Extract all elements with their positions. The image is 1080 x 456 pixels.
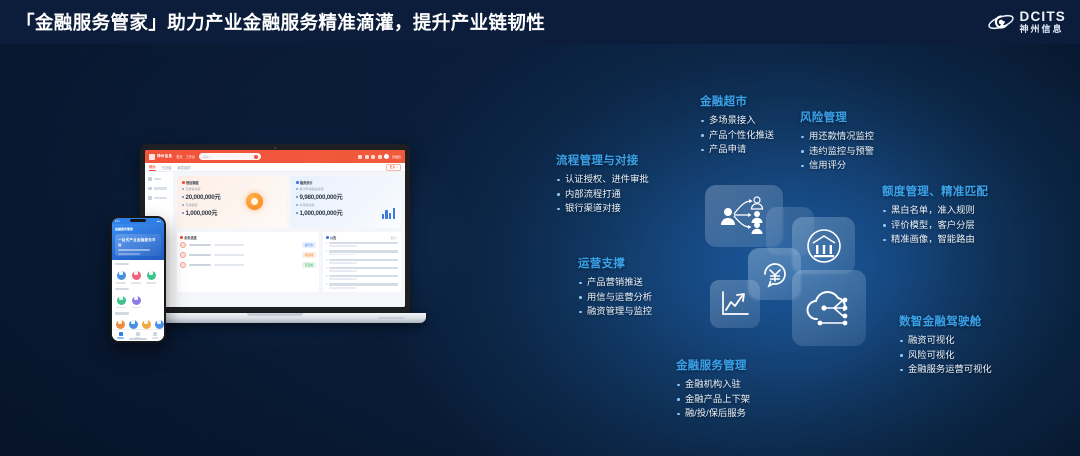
block-list-item: 信用评分 xyxy=(800,158,874,173)
phone-body: 9:41 ●●● 金融服务管家 一站式产业金融服务平台 xyxy=(110,216,166,343)
tile-chart xyxy=(710,280,760,328)
sidebar-item[interactable] xyxy=(148,187,170,191)
mini-bar-chart-icon xyxy=(382,208,395,219)
block-list-item: 金融服务运营可视化 xyxy=(899,362,992,377)
laptop-notch xyxy=(247,313,303,316)
service-icon[interactable] xyxy=(129,320,138,329)
dashboard-main: 授信额度 已授信总额 20,000,000元 可用额度 1,000,000元 xyxy=(173,172,405,307)
page-title: 「金融服务管家」助力产业金融服务精准滴灌，提升产业链韧性 xyxy=(16,9,545,35)
block-list: 产品营销推送 用信与运营分析 融资管理与监控 xyxy=(578,275,652,319)
dashboard-nav-item[interactable]: 首页 xyxy=(176,154,182,159)
service-icon[interactable] xyxy=(155,320,164,329)
news-text xyxy=(329,242,398,247)
list-item-sub xyxy=(214,244,244,246)
block-list-item: 金融机构入驻 xyxy=(676,377,750,392)
service-icon[interactable] xyxy=(116,320,125,329)
tab-done[interactable]: 已办结 xyxy=(162,165,172,170)
home-icon xyxy=(148,177,152,181)
block-financial-supermarket: 金融超市 多场景接入 产品个性化推送 产品申请 xyxy=(700,93,774,157)
swirl-galaxy-icon xyxy=(987,12,1015,32)
card-dot-icon xyxy=(180,236,183,239)
stat-card-title: 融资统计 xyxy=(300,180,313,185)
dashboard-nav[interactable]: 首页 工作台 xyxy=(176,154,195,159)
phone-section-title xyxy=(115,263,129,265)
icon-cluster xyxy=(700,185,865,360)
phone-tab-mine[interactable] xyxy=(147,330,164,341)
phone-signal-icon: ●●● xyxy=(157,220,161,223)
block-list-item: 产品营销推送 xyxy=(578,275,652,290)
block-list-item: 用还款情况监控 xyxy=(800,129,874,144)
news-text xyxy=(329,250,398,255)
credit-badge-icon xyxy=(246,193,263,210)
laptop-foot xyxy=(378,317,404,319)
stat-label: 已授信总额 xyxy=(182,187,282,191)
list-item[interactable]: 待处理 xyxy=(180,252,316,258)
bell-icon[interactable] xyxy=(365,155,369,159)
news-item[interactable]: 6 xyxy=(326,283,398,288)
sidebar-item-label xyxy=(154,178,161,181)
block-title: 数智金融驾驶舱 xyxy=(899,313,992,329)
logo-cn-text: 神州信息 xyxy=(1020,25,1067,34)
sidebar-item[interactable] xyxy=(148,177,170,181)
block-list-item: 评价模型，客户分层 xyxy=(882,218,988,233)
block-list-item: 银行渠道对接 xyxy=(556,201,649,216)
phone-notch xyxy=(130,219,146,222)
block-list: 融资可视化 风险可视化 金融服务运营可视化 xyxy=(899,333,992,377)
news-text xyxy=(329,259,398,264)
phone-home-indicator xyxy=(129,338,147,340)
status-badge: 待处理 xyxy=(302,252,316,258)
block-list: 认证授权、进件审批 内部流程打通 银行渠道对接 xyxy=(556,172,649,216)
sidebar-item-label xyxy=(154,187,167,190)
user-icon xyxy=(153,332,157,336)
stat-label: 可用额度 xyxy=(182,203,282,207)
phone-grid-item[interactable] xyxy=(115,293,127,308)
block-list-item: 产品个性化推送 xyxy=(700,128,774,143)
stat-card-financing: 融资统计 累计申请融资总额 9,980,000,000元 本月融资额 1,000… xyxy=(291,176,401,228)
dashboard-tabs[interactable]: 待办 已办结 我发起的 更多 > xyxy=(145,163,405,172)
service-icon[interactable] xyxy=(142,320,151,329)
cloud-network-icon xyxy=(801,285,857,331)
phone-hero-title: 金融服务管家 xyxy=(115,227,161,231)
phone-section-title xyxy=(115,312,129,314)
list-item-title xyxy=(189,254,211,257)
device-mockups: 神州信息 首页 工作台 请输入 xyxy=(0,120,480,370)
news-card-header: 公告 更多 > xyxy=(326,235,398,240)
tile-bank xyxy=(792,217,855,274)
block-list-item: 黑白名单，准入规则 xyxy=(882,203,988,218)
dashboard-brand: 神州信息 xyxy=(149,154,172,160)
block-list: 黑白名单，准入规则 评价模型，客户分层 精准画像，智能路由 xyxy=(882,203,988,247)
news-item[interactable]: 1 xyxy=(326,242,398,247)
service-icon[interactable] xyxy=(147,271,156,280)
dashboard-nav-item[interactable]: 工作台 xyxy=(186,154,196,159)
block-list-item: 金融产品上下架 xyxy=(676,392,750,407)
status-dot-icon xyxy=(180,242,186,248)
news-index: 3 xyxy=(326,259,327,262)
dashboard-topbar-actions[interactable]: 管理员 xyxy=(358,154,401,159)
phone-time: 9:41 xyxy=(115,220,120,223)
status-dot-icon xyxy=(180,252,186,258)
phone-grid-item[interactable] xyxy=(115,268,127,283)
service-icon[interactable] xyxy=(117,271,126,280)
block-list: 金融机构入驻 金融产品上下架 融/投/保后服务 xyxy=(676,377,750,421)
tab-initiated[interactable]: 我发起的 xyxy=(177,165,190,170)
block-list-item: 内部流程打通 xyxy=(556,187,649,202)
sidebar-item[interactable] xyxy=(148,196,170,200)
search-placeholder: 请输入 xyxy=(202,155,211,159)
block-digital-finance-cockpit: 数智金融驾驶舱 融资可视化 风险可视化 金融服务运营可视化 xyxy=(899,313,992,377)
dashboard-body: 授信额度 已授信总额 20,000,000元 可用额度 1,000,000元 xyxy=(145,172,405,307)
list-item-sub xyxy=(214,264,244,266)
status-dot-icon xyxy=(180,262,186,268)
phone-grid-item[interactable] xyxy=(145,268,157,283)
stat-value: 1,000,000元 xyxy=(182,208,282,217)
phone-mockup: 9:41 ●●● 金融服务管家 一站式产业金融服务平台 xyxy=(110,216,166,343)
search-icon[interactable] xyxy=(254,155,258,159)
logo-text: DCITS 神州信息 xyxy=(1020,10,1067,35)
block-list-item: 多场景接入 xyxy=(700,113,774,128)
grid-icon[interactable] xyxy=(358,155,362,159)
dashboard-topbar: 神州信息 首页 工作台 请输入 xyxy=(145,150,405,163)
phone-banner-text: 一站式产业金融服务平台 xyxy=(118,237,158,247)
block-list-item: 风险可视化 xyxy=(899,348,992,363)
news-text xyxy=(329,283,398,288)
list-item-title xyxy=(189,264,211,267)
news-text xyxy=(329,267,398,272)
news-item[interactable]: 5 xyxy=(326,275,398,280)
block-title: 金融服务管理 xyxy=(676,357,750,373)
dashboard-user-label: 管理员 xyxy=(392,155,401,159)
service-icon xyxy=(136,332,140,336)
block-list-item: 融/投/保后服务 xyxy=(676,406,750,421)
avatar[interactable] xyxy=(384,154,389,159)
phone-screen: 9:41 ●●● 金融服务管家 一站式产业金融服务平台 xyxy=(112,218,164,341)
block-list: 多场景接入 产品个性化推送 产品申请 xyxy=(700,113,774,157)
bank-building-icon xyxy=(805,227,843,265)
news-index: 1 xyxy=(326,242,327,245)
dashboard-logo-icon xyxy=(149,154,155,160)
people-network-icon xyxy=(716,194,772,238)
stat-card-header: 融资统计 xyxy=(296,180,396,185)
message-icon[interactable] xyxy=(371,155,375,159)
block-list-item: 认证授权、进件审批 xyxy=(556,172,649,187)
phone-hero-banner[interactable]: 一站式产业金融服务平台 xyxy=(115,234,161,256)
block-risk-management: 风险管理 用还款情况监控 违约监控与预警 信用评分 xyxy=(800,109,874,173)
block-process-management: 流程管理与对接 认证授权、进件审批 内部流程打通 银行渠道对接 xyxy=(556,152,649,216)
phone-tabbar[interactable] xyxy=(112,329,164,341)
chart-icon xyxy=(148,196,152,200)
news-index: 5 xyxy=(326,275,327,278)
status-badge: 已完成 xyxy=(302,262,316,268)
list-item-title xyxy=(189,244,211,247)
block-list-item: 违约监控与预警 xyxy=(800,144,874,159)
block-title: 金融超市 xyxy=(700,93,774,109)
block-title: 额度管理、精准匹配 xyxy=(882,183,988,199)
dashboard-brand-label: 神州信息 xyxy=(157,154,172,159)
laptop-mockup: 神州信息 首页 工作台 请输入 xyxy=(140,144,410,314)
laptop-screen: 神州信息 首页 工作台 请输入 xyxy=(145,150,405,307)
news-index: 6 xyxy=(326,283,327,286)
phone-grid-item[interactable] xyxy=(130,293,142,308)
service-icon[interactable] xyxy=(132,296,141,305)
news-more-link[interactable]: 更多 > xyxy=(391,236,398,240)
card-dot-icon xyxy=(182,181,185,184)
block-list-item: 融资管理与监控 xyxy=(578,304,652,319)
list-item[interactable]: 进行中 xyxy=(180,242,316,248)
block-list: 用还款情况监控 违约监控与预警 信用评分 xyxy=(800,129,874,173)
block-title: 运营支撑 xyxy=(578,255,652,271)
dashboard-search-input[interactable]: 请输入 xyxy=(199,153,261,160)
stat-card-row: 授信额度 已授信总额 20,000,000元 可用额度 1,000,000元 xyxy=(177,176,401,228)
stat-label: 本月融资额 xyxy=(296,203,396,207)
page-header: 「金融服务管家」助力产业金融服务精准滴灌，提升产业链韧性 DCITS 神州信息 xyxy=(0,0,1080,44)
laptop-body: 神州信息 首页 工作台 请输入 xyxy=(140,144,410,314)
news-index: 2 xyxy=(326,250,327,253)
block-list-item: 产品申请 xyxy=(700,142,774,157)
laptop-base xyxy=(124,313,426,323)
content-row: 业务进度 进行中 xyxy=(177,232,401,292)
sidebar-item-label xyxy=(154,197,167,200)
news-index: 4 xyxy=(326,267,327,270)
block-financial-service-management: 金融服务管理 金融机构入驻 金融产品上下架 融/投/保后服务 xyxy=(676,357,750,421)
phone-grid-item[interactable] xyxy=(130,268,142,283)
phone-tab-home[interactable] xyxy=(112,330,129,341)
help-icon[interactable] xyxy=(378,155,382,159)
status-badge: 进行中 xyxy=(302,242,316,248)
tile-cloud-network xyxy=(792,270,866,346)
stat-value: 20,000,000元 xyxy=(182,192,282,201)
phone-hero: 金融服务管家 一站式产业金融服务平台 xyxy=(112,224,164,260)
phone-section-title xyxy=(115,288,129,290)
growth-chart-icon xyxy=(719,289,751,319)
laptop-camera-icon xyxy=(274,147,276,149)
doc-icon xyxy=(148,187,152,191)
logo-en-text: DCITS xyxy=(1020,10,1067,24)
block-list-item: 精准画像，智能路由 xyxy=(882,232,988,247)
news-item[interactable]: 4 xyxy=(326,267,398,272)
card-dot-icon xyxy=(296,181,299,184)
brand-logo: DCITS 神州信息 xyxy=(987,10,1067,35)
phone-icon-grid[interactable] xyxy=(115,293,161,308)
stat-card-credit: 授信额度 已授信总额 20,000,000元 可用额度 1,000,000元 xyxy=(177,176,287,228)
stat-card-title: 授信额度 xyxy=(186,180,199,185)
list-item[interactable]: 已完成 xyxy=(180,262,316,268)
list-card-header: 业务进度 xyxy=(180,235,316,240)
list-card-title: 业务进度 xyxy=(184,235,197,240)
service-icon[interactable] xyxy=(132,271,141,280)
service-icon[interactable] xyxy=(117,296,126,305)
block-list-item: 融资可视化 xyxy=(899,333,992,348)
tab-todo[interactable]: 待办 xyxy=(149,164,156,171)
tabs-more-button[interactable]: 更多 > xyxy=(386,164,401,171)
news-card-title: 公告 xyxy=(330,235,336,240)
block-quota-matching: 额度管理、精准匹配 黑白名单，准入规则 评价模型，客户分层 精准画像，智能路由 xyxy=(882,183,988,247)
list-item-sub xyxy=(214,254,244,256)
card-dot-icon xyxy=(326,236,329,239)
news-item[interactable]: 2 xyxy=(326,250,398,255)
block-title: 风险管理 xyxy=(800,109,874,125)
yuan-coin-icon xyxy=(760,259,790,289)
announcement-card: 公告 更多 > 1 2 3 4 5 6 xyxy=(323,232,401,292)
stat-value: 9,980,000,000元 xyxy=(296,192,396,201)
news-item[interactable]: 3 xyxy=(326,259,398,264)
news-text xyxy=(329,275,398,280)
home-icon xyxy=(119,332,123,336)
block-operations-support: 运营支撑 产品营销推送 用信与运营分析 融资管理与监控 xyxy=(578,255,652,319)
stat-label: 累计申请融资总额 xyxy=(296,187,396,191)
phone-icon-grid[interactable] xyxy=(115,268,161,283)
progress-list-card: 业务进度 进行中 xyxy=(177,232,319,292)
stat-card-header: 授信额度 xyxy=(182,180,282,185)
block-title: 流程管理与对接 xyxy=(556,152,649,168)
block-list-item: 用信与运营分析 xyxy=(578,290,652,305)
